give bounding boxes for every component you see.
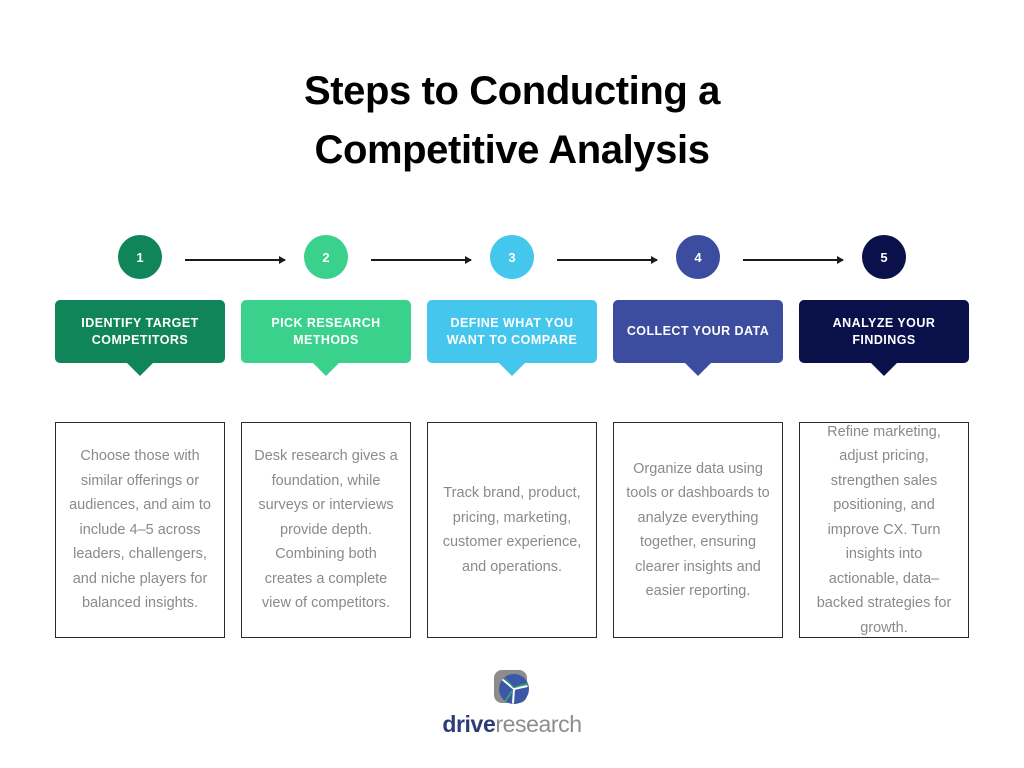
step-number-label-4: 4 — [694, 250, 701, 265]
step-description-text-3: Track brand, product, pricing, marketing… — [440, 481, 584, 579]
brand-logo-word-drive: drive — [442, 711, 495, 737]
brand-logo-wordmark: driveresearch — [442, 711, 581, 737]
step-banner-label-4: COLLECT YOUR DATA — [627, 323, 769, 340]
step-description-box-4: Organize data using tools or dashboards … — [613, 422, 783, 638]
step-description-box-2: Desk research gives a foundation, while … — [241, 422, 411, 638]
step-description-text-2: Desk research gives a foundation, while … — [254, 444, 398, 616]
step-description-box-1: Choose those with similar offerings or a… — [55, 422, 225, 638]
step-banner-2: PICK RESEARCH METHODS — [241, 300, 411, 363]
drive-research-logo-mark-icon — [492, 668, 532, 708]
step-description-text-1: Choose those with similar offerings or a… — [68, 444, 212, 616]
brand-logo-word-research: research — [495, 711, 581, 737]
step-banner-label-1: IDENTIFY TARGET COMPETITORS — [64, 315, 216, 349]
step-description-box-3: Track brand, product, pricing, marketing… — [427, 422, 597, 638]
step-number-label-2: 2 — [322, 250, 329, 265]
step-description-text-4: Organize data using tools or dashboards … — [626, 457, 770, 604]
step-banner-3: DEFINE WHAT YOU WANT TO COMPARE — [427, 300, 597, 363]
step-banner-label-5: ANALYZE YOUR FINDINGS — [808, 315, 960, 349]
step-description-box-5: Refine marketing, adjust pricing, streng… — [799, 422, 969, 638]
step-banner-4: COLLECT YOUR DATA — [613, 300, 783, 363]
banner-tail-triangle-5 — [871, 363, 897, 376]
page-title-line-2: Competitive Analysis — [0, 121, 1024, 180]
step-number-circle-1: 1 — [118, 235, 162, 279]
banner-tail-triangle-2 — [313, 363, 339, 376]
banner-tail-triangle-4 — [685, 363, 711, 376]
step-description-text-5: Refine marketing, adjust pricing, streng… — [812, 420, 956, 641]
brand-logo: driveresearch — [0, 668, 1024, 737]
step-number-label-5: 5 — [880, 250, 887, 265]
banner-tail-triangle-3 — [499, 363, 525, 376]
page-title-line-1: Steps to Conducting a — [0, 62, 1024, 121]
step-banner-label-3: DEFINE WHAT YOU WANT TO COMPARE — [436, 315, 588, 349]
step-number-label-1: 1 — [136, 250, 143, 265]
banner-tail-triangle-1 — [127, 363, 153, 376]
step-indicator-row: 1 2 3 4 5 — [55, 235, 969, 281]
step-number-circle-2: 2 — [304, 235, 348, 279]
step-banner-row: IDENTIFY TARGET COMPETITORS PICK RESEARC… — [55, 300, 969, 380]
step-description-row: Choose those with similar offerings or a… — [55, 422, 969, 638]
step-number-circle-4: 4 — [676, 235, 720, 279]
step-circle-container-5: 5 — [799, 235, 969, 281]
step-banner-5: ANALYZE YOUR FINDINGS — [799, 300, 969, 363]
step-number-circle-5: 5 — [862, 235, 906, 279]
step-banner-label-2: PICK RESEARCH METHODS — [250, 315, 402, 349]
step-number-circle-3: 3 — [490, 235, 534, 279]
page-title: Steps to Conducting a Competitive Analys… — [0, 62, 1024, 180]
step-number-label-3: 3 — [508, 250, 515, 265]
step-banner-1: IDENTIFY TARGET COMPETITORS — [55, 300, 225, 363]
